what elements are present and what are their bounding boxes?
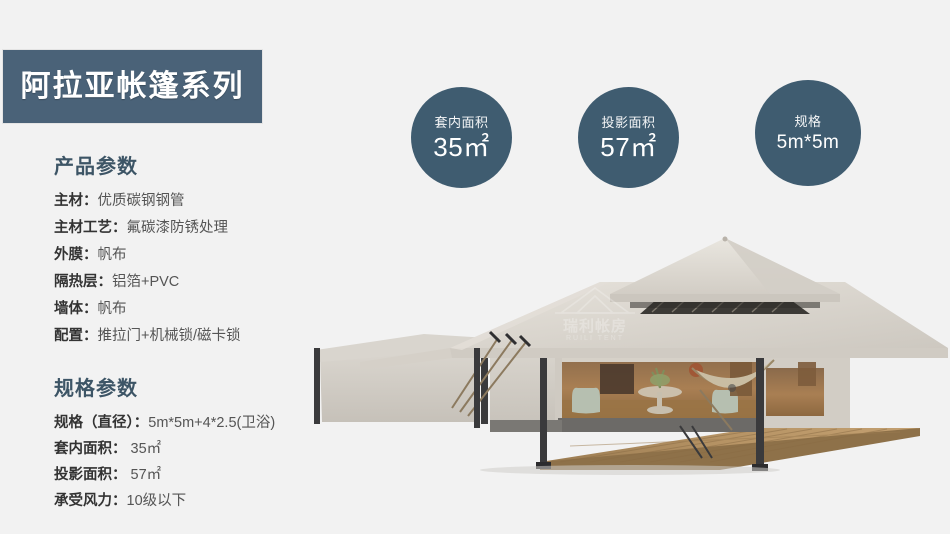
param-value: 推拉门+机械锁/磁卡锁 [98, 328, 241, 344]
spec-key: 承受风力： [54, 493, 127, 509]
stat-badge-value: 35㎡ [433, 134, 489, 160]
stat-badge-value: 57㎡ [600, 134, 656, 160]
ground-shadow [480, 465, 780, 475]
param-row: 墙体：帆布 [54, 296, 340, 323]
param-value: 帆布 [98, 301, 127, 317]
param-key: 外膜： [54, 247, 98, 263]
spec-key: 规格（直径）： [54, 415, 148, 431]
tent-illustration: 瑞利帐房 RUILI TENT [300, 230, 950, 490]
spec-value: 10级以下 [127, 493, 187, 509]
param-row: 配置：推拉门+机械锁/磁卡锁 [54, 323, 340, 350]
product-params-list: 主材：优质碳钢钢管 主材工艺：氟碳漆防锈处理 外膜：帆布 隔热层：铝箔+PVC … [0, 188, 340, 350]
stat-badge-label: 投影面积 [601, 116, 655, 129]
spec-value: 57㎡ [127, 467, 162, 483]
tent-render-svg [300, 230, 950, 490]
spec-params-list: 规格（直径）：5m*5m+4*2.5(卫浴) 套内面积： 35㎡ 投影面积： 5… [0, 410, 340, 514]
product-params-heading: 产品参数 [0, 150, 340, 179]
param-value: 铝箔+PVC [112, 274, 179, 290]
post-center-right [756, 358, 764, 468]
param-row: 隔热层：铝箔+PVC [54, 269, 340, 296]
spec-row: 套内面积： 35㎡ [54, 436, 340, 462]
spec-row: 承受风力：10级以下 [54, 488, 340, 514]
room-base-plinth-left [490, 420, 562, 432]
right-bay-cabinet [798, 362, 816, 386]
annex-post-left [314, 348, 320, 424]
stat-badge-interior-area: 套内面积 35㎡ [411, 87, 512, 188]
stat-badge-label: 规格 [794, 115, 821, 128]
post-center-left [540, 358, 547, 466]
param-value: 优质碳钢钢管 [98, 193, 185, 209]
top-roof-fascia [610, 294, 840, 302]
piano [600, 364, 634, 394]
stat-badge-projected-area: 投影面积 57㎡ [578, 87, 679, 188]
section-spacer [0, 350, 340, 372]
spec-params-heading: 规格参数 [0, 372, 340, 401]
stat-badge-dimensions: 规格 5m*5m [755, 80, 861, 186]
spec-row: 投影面积： 57㎡ [54, 462, 340, 488]
param-key: 隔热层： [54, 274, 112, 290]
roof-finial [723, 237, 728, 242]
param-key: 墙体： [54, 301, 98, 317]
param-row: 主材工艺：氟碳漆防锈处理 [54, 215, 340, 242]
param-value: 氟碳漆防锈处理 [127, 220, 229, 236]
lower-roof-fascia [450, 348, 948, 358]
param-row: 外膜：帆布 [54, 242, 340, 269]
param-key: 配置： [54, 328, 98, 344]
page-title: 阿拉亚帐篷系列 [21, 72, 245, 102]
spec-key: 投影面积： [54, 467, 127, 483]
armchair-left [572, 388, 600, 414]
spec-value: 5m*5m+4*2.5(卫浴) [148, 415, 275, 431]
spec-key: 套内面积： [54, 441, 127, 457]
post-annex [474, 348, 480, 428]
stat-badge-value: 5m*5m [777, 133, 840, 152]
title-banner: 阿拉亚帐篷系列 [3, 50, 262, 123]
spec-row: 规格（直径）：5m*5m+4*2.5(卫浴) [54, 410, 340, 436]
spec-panel: 产品参数 主材：优质碳钢钢管 主材工艺：氟碳漆防锈处理 外膜：帆布 隔热层：铝箔… [0, 150, 340, 514]
slide-root: 阿拉亚帐篷系列 产品参数 主材：优质碳钢钢管 主材工艺：氟碳漆防锈处理 外膜：帆… [0, 0, 950, 534]
param-key: 主材工艺： [54, 220, 127, 236]
param-key: 主材： [54, 193, 98, 209]
param-row: 主材：优质碳钢钢管 [54, 188, 340, 215]
param-value: 帆布 [98, 247, 127, 263]
stat-badge-label: 套内面积 [434, 116, 488, 129]
spec-value: 35㎡ [127, 441, 162, 457]
